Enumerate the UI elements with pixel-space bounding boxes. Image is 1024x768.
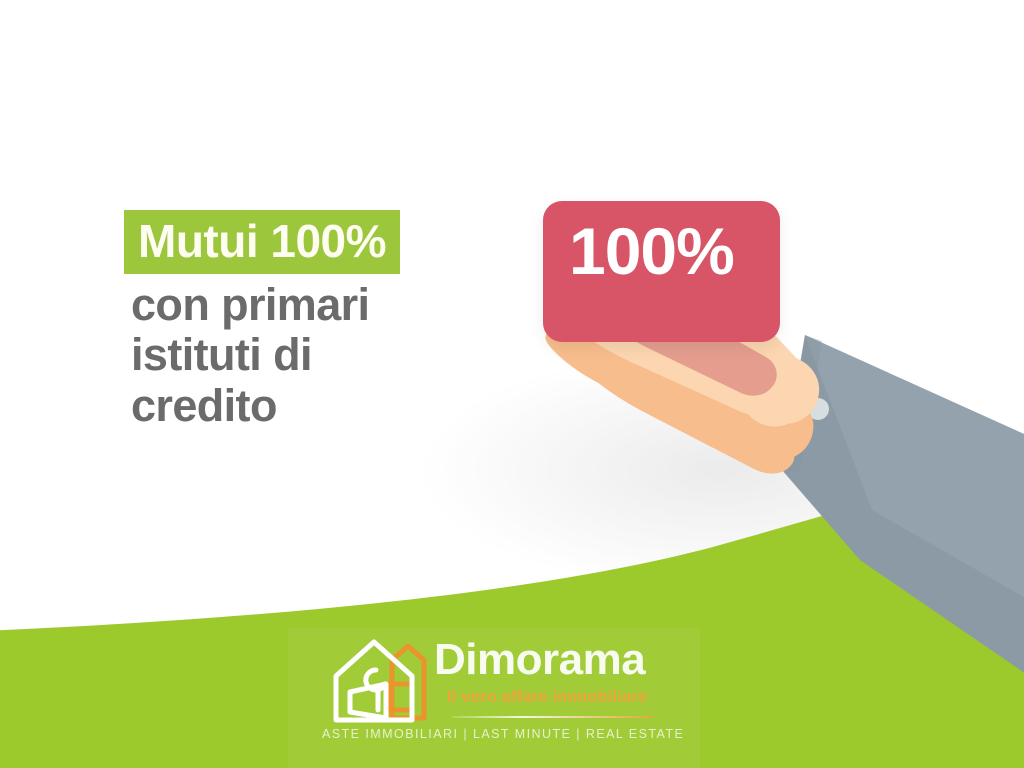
brand-wordmark: Dimorama Il vero affare immobiliare (434, 638, 679, 706)
percent-card: 100% (543, 201, 780, 342)
tagline-rule (452, 716, 652, 718)
headline-block: Mutui 100% con primari istituti di credi… (124, 210, 554, 431)
brand-tagline: Il vero affare immobiliare (447, 689, 679, 706)
headline-highlight-wrap: Mutui 100% (124, 210, 554, 274)
headline-line-3: credito (124, 381, 554, 431)
headline-line-1: con primari (124, 280, 554, 330)
headline-highlight: Mutui 100% (124, 210, 400, 274)
brand-logo[interactable]: Dimorama Il vero affare immobiliare ASTE… (330, 632, 675, 764)
brand-strapline: ASTE IMMOBILIARI | LAST MINUTE | REAL ES… (322, 728, 672, 741)
headline-line-2: istituti di (124, 330, 554, 380)
house-outline-icon (330, 632, 434, 732)
percent-card-label: 100% (569, 218, 734, 284)
brand-name: Dimorama (434, 638, 679, 682)
promo-banner: 100% Mutui 100% con primari istituti di … (0, 0, 1024, 768)
